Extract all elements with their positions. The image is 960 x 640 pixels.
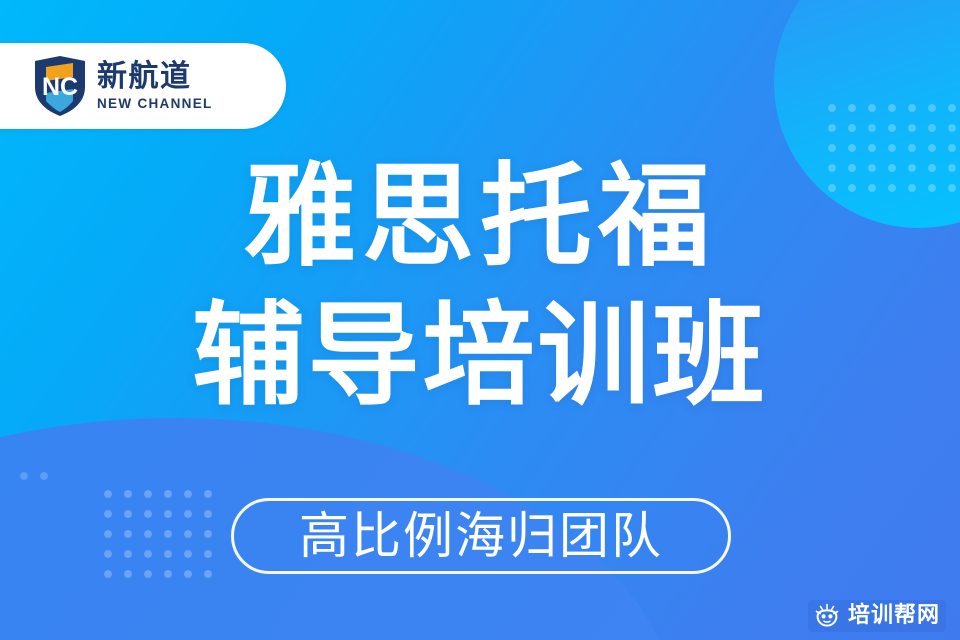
subtitle-pill: 高比例海归团队	[231, 498, 731, 574]
brand-wordmark: 新航道 NEW CHANNEL	[97, 62, 213, 111]
promo-banner: NC 新航道 NEW CHANNEL 雅思托福 辅导培训班 高比例海归团队	[0, 0, 960, 640]
brand-name-en: NEW CHANNEL	[97, 97, 213, 111]
dot-grid-bottom-left	[98, 484, 224, 590]
watermark: 培训帮网	[808, 600, 946, 632]
dot-grid-mid-left	[14, 466, 58, 492]
headline-line-2: 辅导培训班	[0, 287, 960, 426]
watermark-text: 培训帮网	[848, 605, 940, 627]
brand-logo-pill[interactable]: NC 新航道 NEW CHANNEL	[0, 43, 286, 129]
brand-name-cn: 新航道	[97, 62, 213, 92]
shield-nc-icon: NC	[32, 55, 88, 117]
shield-monogram: NC	[42, 73, 78, 101]
headline-block: 雅思托福 辅导培训班	[0, 148, 960, 426]
sun-face-icon	[814, 603, 840, 629]
headline-line-1: 雅思托福	[0, 148, 960, 287]
subtitle-text: 高比例海归团队	[299, 511, 663, 561]
